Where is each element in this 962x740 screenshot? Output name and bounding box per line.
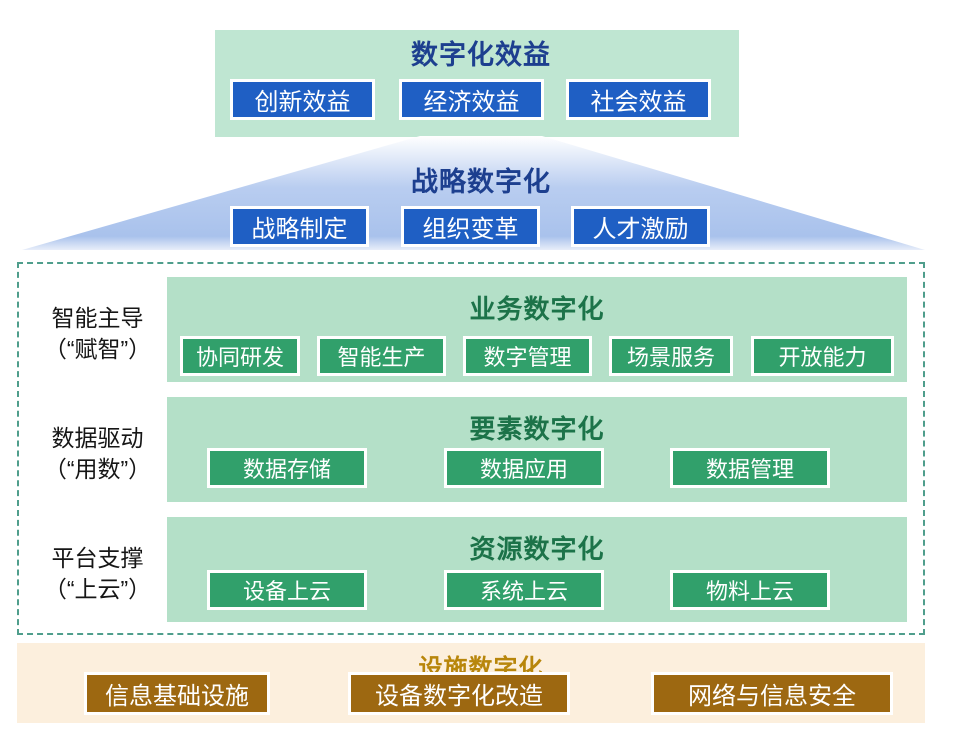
element-chip-data-application[interactable]: 数据应用 — [444, 448, 604, 488]
business-chip-scenario-service[interactable]: 场景服务 — [609, 336, 733, 376]
tier-label-data-driven: 数据驱动 （“用数”） — [25, 423, 170, 485]
strategy-chip-organization[interactable]: 组织变革 — [401, 206, 540, 247]
business-chip-smart-production[interactable]: 智能生产 — [317, 336, 446, 376]
tier-label-platform-support: 平台支撑 （“上云”） — [25, 543, 170, 605]
resource-chip-equipment-cloud[interactable]: 设备上云 — [207, 570, 367, 610]
element-chip-data-storage[interactable]: 数据存储 — [207, 448, 367, 488]
resource-chip-material-cloud[interactable]: 物料上云 — [670, 570, 830, 610]
business-chip-collab-rnd[interactable]: 协同研发 — [180, 336, 300, 376]
facility-chip-equipment-upgrade[interactable]: 设备数字化改造 — [348, 672, 570, 715]
strategy-chip-talent[interactable]: 人才激励 — [571, 206, 710, 247]
business-chip-open-capability[interactable]: 开放能力 — [751, 336, 894, 376]
facility-chip-it-infrastructure[interactable]: 信息基础设施 — [84, 672, 270, 715]
digital-benefit-title: 数字化效益 — [0, 33, 962, 72]
strategy-title: 战略数字化 — [0, 160, 962, 199]
tier-label-line1: 智能主导 — [25, 303, 170, 334]
benefit-chip-social[interactable]: 社会效益 — [566, 79, 711, 120]
tier-title-resource: 资源数字化 — [167, 529, 907, 566]
business-chip-digital-management[interactable]: 数字管理 — [463, 336, 592, 376]
tier-label-line1: 数据驱动 — [25, 423, 170, 454]
tier-title-element: 要素数字化 — [167, 409, 907, 446]
tier-label-intelligence-led: 智能主导 （“赋智”） — [25, 303, 170, 365]
tier-label-line2: （“上云”） — [25, 574, 170, 605]
strategy-chip-planning[interactable]: 战略制定 — [230, 206, 369, 247]
tier-label-line1: 平台支撑 — [25, 543, 170, 574]
element-chip-data-management[interactable]: 数据管理 — [670, 448, 830, 488]
benefit-chip-innovation[interactable]: 创新效益 — [230, 79, 375, 120]
tier-label-line2: （“用数”） — [25, 454, 170, 485]
resource-chip-system-cloud[interactable]: 系统上云 — [444, 570, 604, 610]
tier-label-line2: （“赋智”） — [25, 334, 170, 365]
tier-title-business: 业务数字化 — [167, 289, 907, 326]
facility-chip-network-security[interactable]: 网络与信息安全 — [651, 672, 893, 715]
benefit-chip-economic[interactable]: 经济效益 — [399, 79, 544, 120]
